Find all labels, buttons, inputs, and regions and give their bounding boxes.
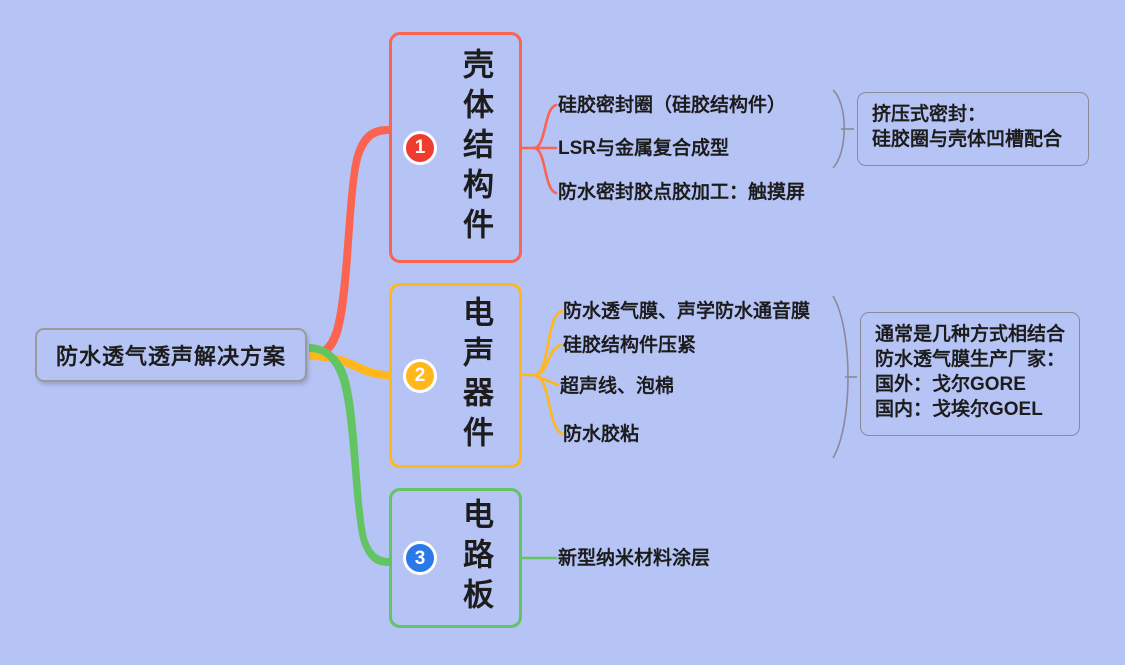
branch-3-inner: 3 电路板 (392, 491, 519, 625)
root-node-label: 防水透气透声解决方案 (56, 339, 286, 371)
branch-3-label: 电路板 (460, 498, 491, 618)
leaf-2-4[interactable]: 防水胶粘 (563, 425, 639, 444)
note-2-line-3: 国外：戈尔GORE (875, 372, 1065, 397)
branch-node-3[interactable]: 3 电路板 (389, 488, 522, 628)
note-box-1[interactable]: 挤压式密封： 硅胶圈与壳体凹槽配合 (857, 92, 1089, 166)
branch-3-badge: 3 (403, 541, 437, 575)
branch-node-1[interactable]: 1 壳体结构件 (389, 32, 522, 263)
branch-2-label: 电声器件 (460, 296, 491, 456)
leaf-1-2[interactable]: LSR与金属复合成型 (558, 139, 729, 158)
mindmap-canvas: 防水透气透声解决方案 1 壳体结构件 硅胶密封圈（硅胶结构件） LSR与金属复合… (0, 0, 1125, 665)
note-box-2[interactable]: 通常是几种方式相结合 防水透气膜生产厂家： 国外：戈尔GORE 国内：戈埃尔GO… (860, 312, 1080, 436)
brace-1 (833, 90, 854, 168)
trunk-branch-1 (309, 126, 389, 359)
leaf-2-2[interactable]: 硅胶结构件压紧 (563, 336, 696, 355)
leaf-2-3[interactable]: 超声线、泡棉 (560, 377, 674, 396)
branch-1-badge: 1 (403, 131, 437, 165)
leaf-3-1[interactable]: 新型纳米材料涂层 (558, 549, 710, 568)
note-2-line-4: 国内：戈埃尔GOEL (875, 397, 1065, 422)
note-1-line-1: 挤压式密封： (872, 102, 1074, 127)
trunk-branch-2 (309, 352, 389, 379)
branch-1-inner: 1 壳体结构件 (392, 35, 519, 260)
leaf-2-1[interactable]: 防水透气膜、声学防水通音膜 (563, 302, 810, 321)
note-2-line-2: 防水透气膜生产厂家： (875, 347, 1065, 372)
root-node[interactable]: 防水透气透声解决方案 (35, 328, 307, 382)
note-2-line-1: 通常是几种方式相结合 (875, 322, 1065, 347)
trunk-branch-3 (309, 344, 389, 566)
branch-2-inner: 2 电声器件 (392, 286, 519, 465)
leaf-1-1[interactable]: 硅胶密封圈（硅胶结构件） (558, 96, 786, 115)
branch-2-badge: 2 (403, 359, 437, 393)
brace-2 (833, 296, 857, 458)
leaf-links-2 (521, 311, 563, 434)
branch-1-label: 壳体结构件 (460, 48, 491, 248)
leaf-links-1 (521, 105, 556, 193)
note-1-line-2: 硅胶圈与壳体凹槽配合 (872, 127, 1074, 152)
leaf-1-3[interactable]: 防水密封胶点胶加工：触摸屏 (558, 183, 805, 202)
branch-node-2[interactable]: 2 电声器件 (389, 283, 522, 468)
